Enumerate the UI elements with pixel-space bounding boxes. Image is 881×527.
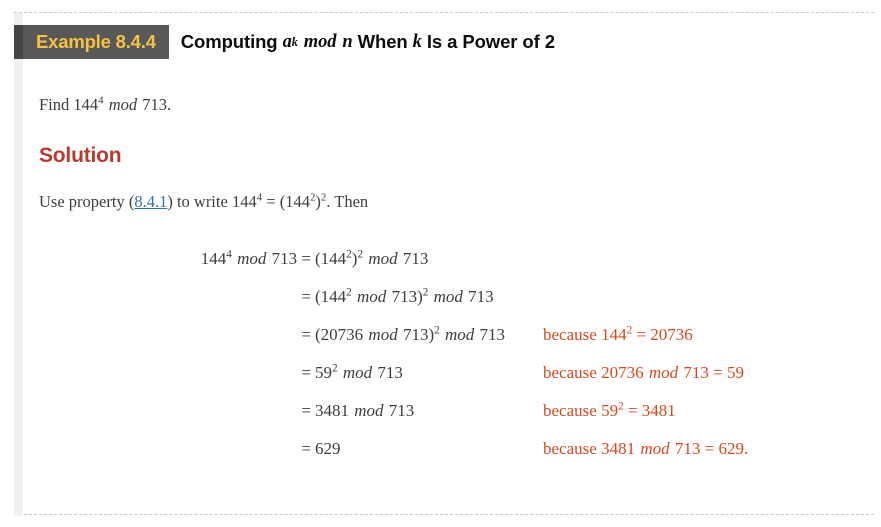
derivation-row1-lhs: 1444 mod 713 = [201, 249, 311, 287]
r2-mod2-n: 713 [468, 287, 494, 306]
derivation-row: = 592 mod 713 because 20736 mod 713 = 59 [201, 363, 748, 401]
use-property-mid: to write [177, 192, 228, 211]
r5-mod: mod [353, 401, 384, 420]
r4-mod: mod [342, 363, 373, 382]
use-lhs-base: 144 [232, 192, 257, 211]
example-body: Find 1444 mod 713. Solution Use property… [39, 93, 859, 477]
r6-note-mod: mod [639, 439, 670, 458]
r4-note-value: 20736 [601, 363, 644, 382]
r6-value: 629 [315, 439, 341, 458]
r5-note-base: 59 [601, 401, 618, 420]
r4-note-mod: mod [648, 363, 679, 382]
r4-note-equals: = [713, 363, 723, 382]
derivation-row6-rhs: 629 [311, 439, 505, 477]
r4-note-pre: because [543, 363, 597, 382]
r1-mod: mod [236, 249, 267, 268]
r3-mod1-n: 713 [403, 325, 429, 344]
title-word-when: When [358, 31, 408, 53]
r5-equals: = [301, 401, 311, 420]
r2-equals: = [301, 287, 311, 306]
derivation-row2-rhs: (1442 mod 713)2 mod 713 [311, 287, 505, 325]
derivation-row5-rhs: 3481 mod 713 [311, 401, 505, 439]
r2-inner-exp: 2 [346, 286, 352, 298]
example-number-badge: Example 8.4.4 [14, 25, 169, 59]
left-gutter-strip [14, 13, 23, 516]
derivation-row2-lhs: = [201, 287, 311, 325]
r3-mod2: mod [444, 325, 475, 344]
r3-mod2-n: 713 [480, 325, 506, 344]
title-var-a: a [283, 32, 292, 53]
derivation-row6-note: because 3481 mod 713 = 629. [505, 439, 748, 477]
r6-note-result: 629. [718, 439, 748, 458]
example-box: Example 8.4.4 Computing ak mod n When k … [14, 12, 874, 515]
problem-base: 144 [73, 95, 98, 114]
derivation-row: = 629 because 3481 mod 713 = 629. [201, 439, 748, 477]
problem-exponent: 4 [98, 95, 103, 107]
r1-r-mod: mod [367, 249, 398, 268]
derivation-block: 1444 mod 713 = (1442)2 mod 713 = [201, 249, 748, 477]
problem-modulus: 713 [142, 95, 167, 114]
r1-exp: 4 [226, 248, 232, 260]
r5-value: 3481 [315, 401, 349, 420]
derivation-row4-lhs: = [201, 363, 311, 401]
r1-r-modulus: 713 [403, 249, 429, 268]
r3-value: 20736 [321, 325, 364, 344]
title-var-k2: k [413, 32, 422, 53]
r5-note-exp: 2 [618, 400, 624, 412]
title-op-mod: mod [303, 32, 338, 53]
title-word-computing: Computing [181, 31, 278, 53]
derivation-row5-note: because 592 = 3481 [505, 401, 748, 439]
use-lhs-exp: 4 [257, 191, 262, 203]
derivation-row5-lhs: = [201, 401, 311, 439]
use-property-line: Use property (8.4.1) to write 1444 = (14… [39, 190, 859, 215]
derivation-row: = 3481 mod 713 because 592 = 3481 [201, 401, 748, 439]
derivation-row3-note: because 1442 = 20736 [505, 325, 748, 363]
problem-mod-operator: mod [108, 95, 138, 114]
r6-note-equals: = [705, 439, 715, 458]
r4-note-result: 59 [727, 363, 744, 382]
r5-note-pre: because [543, 401, 597, 420]
problem-lead: Find [39, 95, 69, 114]
r6-note-value: 3481 [601, 439, 635, 458]
r2-mod1: mod [356, 287, 387, 306]
r3-outer-exp: 2 [434, 324, 440, 336]
r1-r-outer-exp: 2 [357, 248, 363, 260]
solution-heading: Solution [39, 144, 859, 168]
r3-note-pre: because [543, 325, 597, 344]
paren-close-ref: ) [167, 192, 173, 211]
r6-equals: = [301, 439, 311, 458]
use-rhs-base: 144 [285, 192, 310, 211]
r3-note-exp: 2 [627, 324, 633, 336]
derivation-row3-rhs: (20736 mod 713)2 mod 713 [311, 325, 505, 363]
derivation-row: = (1442 mod 713)2 mod 713 [201, 287, 748, 325]
r3-note-value: 20736 [650, 325, 693, 344]
problem-period: . [167, 95, 171, 114]
r4-modulus: 713 [377, 363, 403, 382]
r6-note-n: 713 [675, 439, 701, 458]
title-var-n: n [342, 32, 352, 53]
example-page: Example 8.4.4 Computing ak mod n When k … [0, 0, 881, 527]
r1-equals: = [301, 249, 311, 268]
derivation-row: = (20736 mod 713)2 mod 713 because 1442 … [201, 325, 748, 363]
r1-modulus: 713 [272, 249, 298, 268]
r4-note-n: 713 [683, 363, 709, 382]
r4-exp: 2 [332, 362, 338, 374]
derivation-row1-rhs: (1442)2 mod 713 [311, 249, 505, 287]
derivation-row6-lhs: = [201, 439, 311, 477]
r3-note-equals: = [636, 325, 646, 344]
example-badge-label: Example 8.4.4 [36, 31, 156, 53]
use-equals: = [266, 192, 275, 211]
r3-equals: = [301, 325, 311, 344]
r3-mod1: mod [367, 325, 398, 344]
r5-note-equals: = [628, 401, 638, 420]
r2-outer-exp: 2 [423, 286, 429, 298]
r4-equals: = [301, 363, 311, 382]
derivation-row4-rhs: 592 mod 713 [311, 363, 505, 401]
r1-r-base: 144 [321, 249, 347, 268]
r2-base: 144 [321, 287, 347, 306]
derivation-row1-note [505, 249, 748, 287]
r5-note-value: 3481 [642, 401, 676, 420]
r4-base: 59 [315, 363, 332, 382]
use-property-prefix: Use property [39, 192, 125, 211]
r5-modulus: 713 [389, 401, 415, 420]
r1-base: 144 [201, 249, 227, 268]
r3-note-base: 144 [601, 325, 627, 344]
example-header: Example 8.4.4 Computing ak mod n When k … [14, 25, 555, 59]
cross-reference-link-8-4-1[interactable]: 8.4.1 [134, 192, 167, 211]
r6-note-pre: because [543, 439, 597, 458]
derivation-row2-note [505, 287, 748, 325]
derivation-row4-note: because 20736 mod 713 = 59 [505, 363, 748, 401]
derivation-row3-lhs: = [201, 325, 311, 363]
r2-mod1-n: 713 [392, 287, 418, 306]
use-property-tail: . Then [326, 192, 368, 211]
title-word-tail: Is a Power of 2 [427, 31, 555, 53]
problem-statement: Find 1444 mod 713. [39, 93, 859, 118]
derivation-row: 1444 mod 713 = (1442)2 mod 713 [201, 249, 748, 287]
r2-mod2: mod [433, 287, 464, 306]
example-title: Computing ak mod n When k Is a Power of … [169, 25, 555, 59]
